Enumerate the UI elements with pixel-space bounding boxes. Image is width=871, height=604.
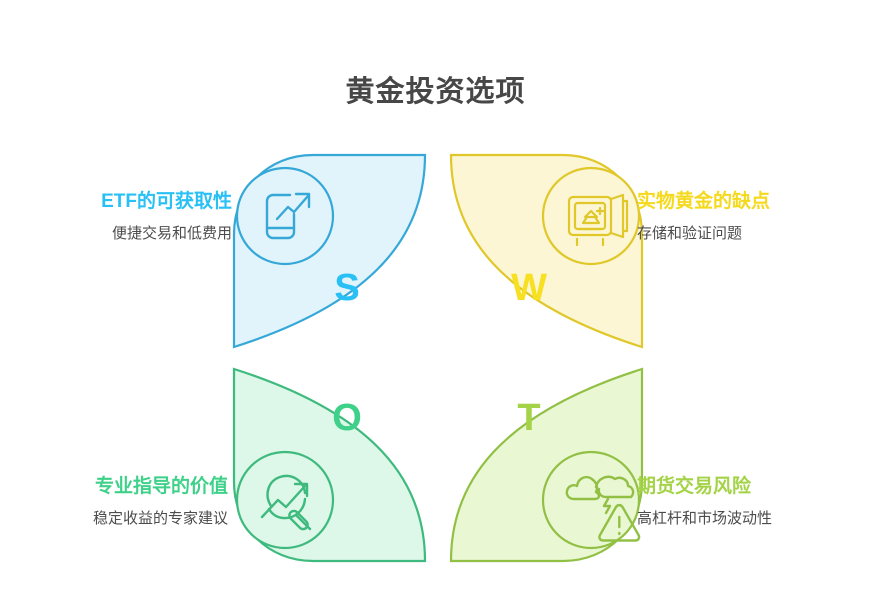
weakness-heading: 实物黄金的缺点 [637,190,871,214]
opportunity-heading: 专业指导的价值 [0,475,228,499]
opportunity-subtitle: 稳定收益的专家建议 [0,508,228,530]
weakness-subtitle: 存储和验证问题 [637,223,871,245]
label-block-strength: ETF的可获取性 便捷交易和低费用 [0,190,232,245]
weakness-letter: W [511,267,547,309]
opportunity-letter: O [332,397,362,439]
page-title: 黄金投资选项 [0,68,871,110]
swot-quadrant-threat[interactable] [451,369,642,561]
strength-letter: S [334,267,359,309]
label-block-opportunity: 专业指导的价值 稳定收益的专家建议 [0,475,228,530]
strength-heading: ETF的可获取性 [0,190,232,214]
label-block-weakness: 实物黄金的缺点 存储和验证问题 [637,190,871,245]
opportunity-icon-circle[interactable] [237,452,333,548]
swot-quadrant-opportunity[interactable] [234,369,425,561]
threat-subtitle: 高杠杆和市场波动性 [637,508,871,530]
label-block-threat: 期货交易风险 高杠杆和市场波动性 [637,475,871,530]
threat-heading: 期货交易风险 [637,475,871,499]
swot-quadrant-weakness[interactable] [451,155,642,347]
strength-subtitle: 便捷交易和低费用 [0,223,232,245]
threat-letter: T [517,397,540,439]
swot-diagram: S W [228,148,648,568]
strength-icon-circle[interactable] [237,168,333,264]
swot-quadrant-strength[interactable]: S [233,155,425,348]
